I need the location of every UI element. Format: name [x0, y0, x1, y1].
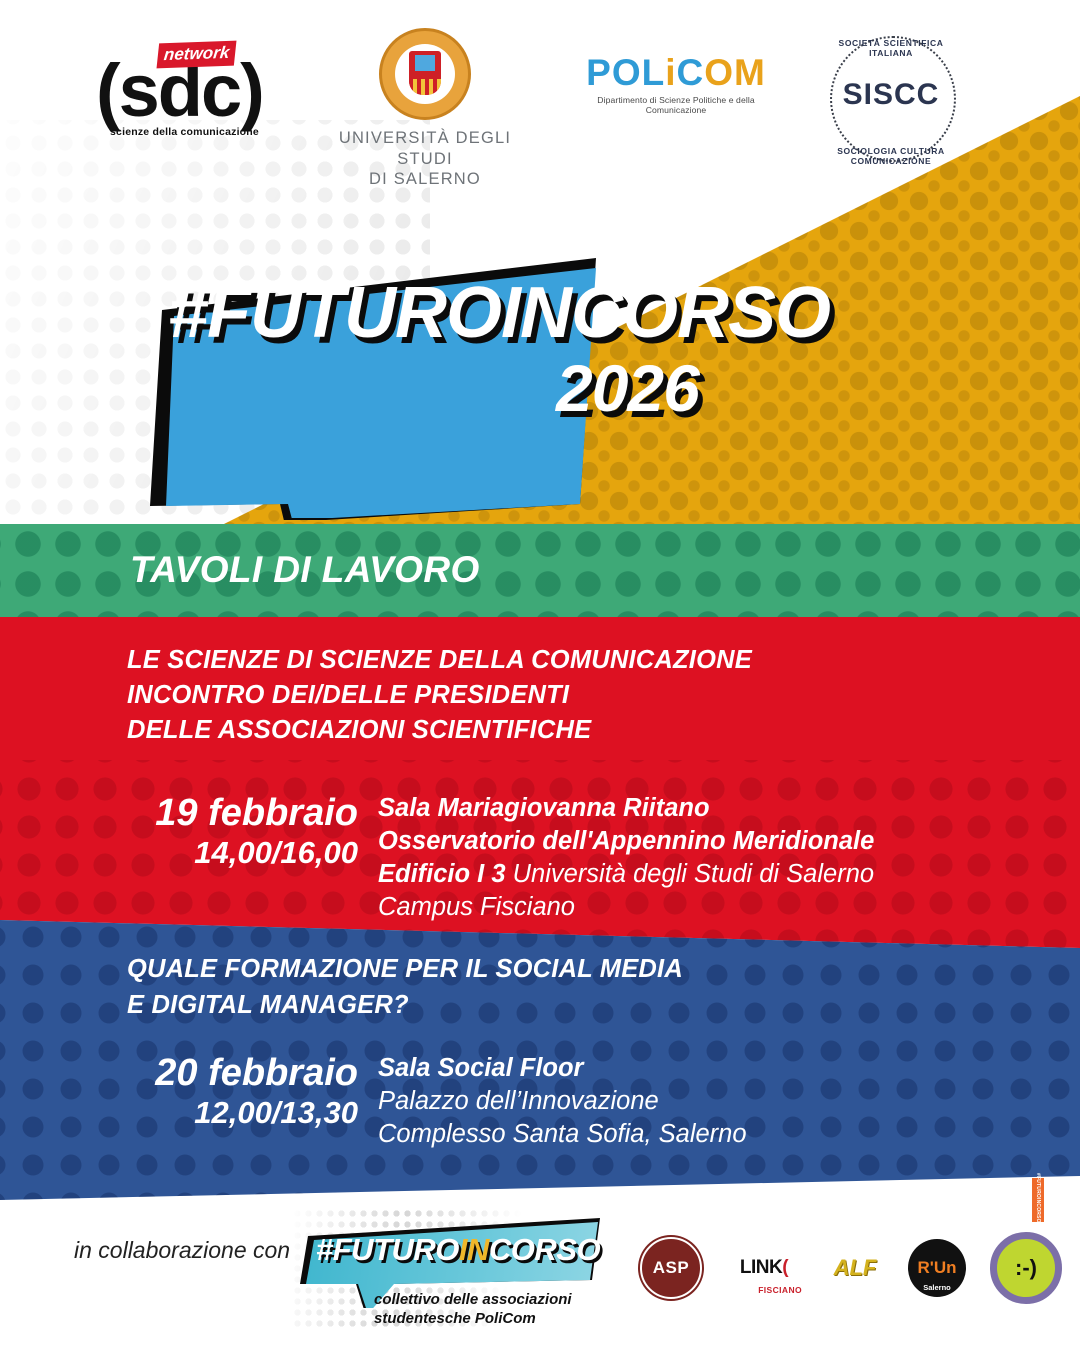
run-sublabel: Salerno [908, 1283, 966, 1292]
blue-venue-column: Sala Social Floor Palazzo dell’Innovazio… [378, 1052, 747, 1151]
siscc-ring-top-text: SOCIETÀ SCIENTIFICA ITALIANA [818, 38, 964, 58]
side-badge: #FUTUROINCORSO [1032, 1178, 1044, 1222]
red-date-column: 19 febbraio 14,00/16,00 [110, 792, 378, 871]
red-date: 19 febbraio [110, 792, 358, 835]
unisa-shield-icon [409, 51, 441, 95]
red-heading-line-2: INCONTRO DEI/DELLE PRESIDENTI [127, 678, 752, 713]
policom-wordmark: POLiCOM [566, 54, 786, 91]
red-venue-column: Sala Mariagiovanna Riitano Osservatorio … [378, 792, 874, 925]
footer-collective-subtitle: collettivo delle associazioni studentesc… [374, 1290, 572, 1328]
sdc-network-logo: (sdc) network scienze della comunicazion… [96, 36, 296, 136]
unisa-logo: UNIVERSITÀ DEGLI STUDI DI SALERNO [310, 28, 540, 168]
blue-time: 12,00/13,30 [110, 1095, 358, 1132]
hero-year: 2026 [556, 350, 699, 426]
alf-logo: ALF [826, 1239, 884, 1297]
policom-subtitle: Dipartimento di Scienze Politiche e dell… [566, 95, 786, 115]
association-logos-row: ASP LINK( FISCIANO ALF R'Un Salerno :-) [640, 1232, 1062, 1304]
blue-session-heading: QUALE FORMAZIONE PER IL SOCIAL MEDIA E D… [127, 952, 683, 1023]
poster-root: (sdc) network scienze della comunicazion… [0, 0, 1080, 1350]
unisa-seal-icon [379, 28, 471, 120]
link-fisciano-logo: LINK( FISCIANO [726, 1239, 802, 1297]
footer-logo-part3: CORSO [489, 1232, 600, 1267]
siscc-acronym: SISCC [818, 78, 964, 112]
side-badge-text: #FUTUROINCORSO [1035, 1173, 1041, 1217]
section-label-tavoli-di-lavoro: TAVOLI DI LAVORO [130, 549, 480, 591]
sdc-subtitle: scienze della comunicazione [110, 126, 259, 138]
asp-logo: ASP [640, 1237, 702, 1299]
run-label: R'Un [918, 1258, 957, 1278]
footer-collective-line-1: collettivo delle associazioni [374, 1290, 572, 1309]
link-label: LINK [740, 1257, 782, 1279]
blue-heading-line-1: QUALE FORMAZIONE PER IL SOCIAL MEDIA [127, 952, 683, 988]
link-sublabel: FISCIANO [758, 1285, 802, 1295]
header-logo-strip: (sdc) network scienze della comunicazion… [0, 0, 1080, 180]
sdc-network-badge: network [157, 41, 237, 69]
red-session-heading: LE SCIENZE DI SCIENZE DELLA COMUNICAZION… [127, 643, 752, 749]
blue-venue-line-2: Palazzo dell’Innovazione [378, 1085, 747, 1118]
red-session-details: 19 febbraio 14,00/16,00 Sala Mariagiovan… [110, 792, 874, 925]
red-venue-building: Edificio I 3 [378, 860, 506, 888]
siscc-logo: SOCIETÀ SCIENTIFICA ITALIANA SISCC SOCIO… [818, 28, 968, 168]
footer-futuroincorso-logo: #FUTUROINCORSO [316, 1232, 600, 1268]
footer-logo-part2: IN [459, 1232, 489, 1267]
blue-venue-line-1: Sala Social Floor [378, 1052, 747, 1085]
unisa-name: UNIVERSITÀ DEGLI STUDI DI SALERNO [310, 128, 540, 190]
policom-logo: POLiCOM Dipartimento di Scienze Politich… [566, 54, 786, 120]
footer-logo-part1: #FUTURO [316, 1232, 459, 1267]
collaboration-label: in collaborazione con [74, 1237, 290, 1264]
blue-session-details: 20 febbraio 12,00/13,30 Sala Social Floo… [110, 1052, 747, 1151]
siscc-ring-bottom-text: SOCIOLOGIA CULTURA COMUNICAZIONE [818, 146, 964, 166]
red-venue-line-2: Osservatorio dell'Appennino Meridionale [378, 825, 874, 858]
aec-logo: :-) [990, 1232, 1062, 1304]
red-venue-line-4: Campus Fisciano [378, 891, 874, 924]
blue-date: 20 febbraio [110, 1052, 358, 1095]
blue-heading-line-2: E DIGITAL MANAGER? [127, 988, 683, 1024]
unisa-name-line1: UNIVERSITÀ DEGLI STUDI [310, 128, 540, 169]
red-heading-line-3: DELLE ASSOCIAZIONI SCIENTIFICHE [127, 713, 752, 748]
red-venue-line-3: Edificio I 3 Università degli Studi di S… [378, 858, 874, 891]
run-salerno-logo: R'Un Salerno [908, 1239, 966, 1297]
footer-collective-line-2: studentesche PoliCom [374, 1309, 572, 1328]
red-venue-line-1: Sala Mariagiovanna Riitano [378, 792, 874, 825]
unisa-shield-sky [415, 55, 435, 71]
unisa-name-line2: DI SALERNO [310, 169, 540, 190]
blue-date-column: 20 febbraio 12,00/13,30 [110, 1052, 378, 1131]
blue-venue-line-3: Complesso Santa Sofia, Salerno [378, 1118, 747, 1151]
red-time: 14,00/16,00 [110, 835, 358, 872]
red-heading-line-1: LE SCIENZE DI SCIENZE DELLA COMUNICAZION… [127, 643, 752, 678]
red-venue-university: Università degli Studi di Salerno [513, 860, 874, 888]
hero-title: #FUTUROINCORSO [168, 279, 998, 347]
